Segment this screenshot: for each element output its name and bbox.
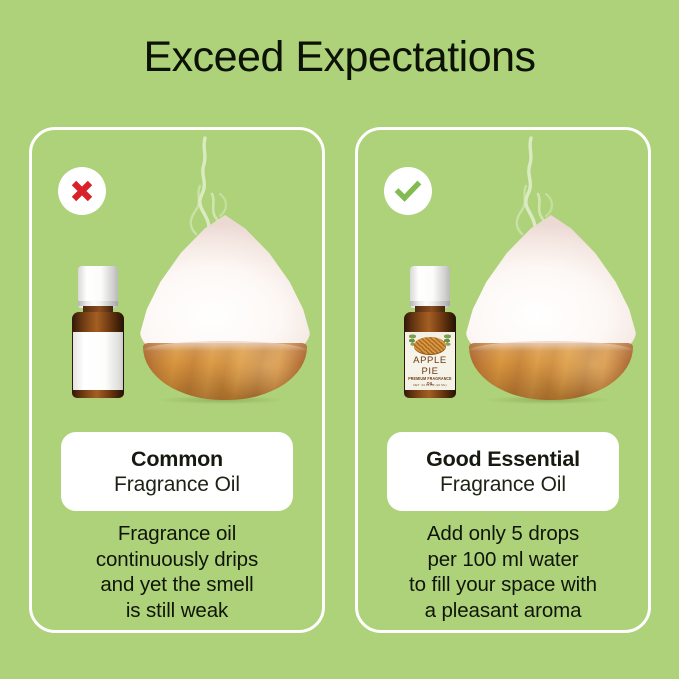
product-scene-common [32,130,322,420]
bottle-label-blank [73,332,123,390]
pie-icon [414,337,446,354]
body-line: is still weak [38,598,316,624]
pill-title: Common [131,446,223,472]
body-copy-common: Fragrance oil continuously drips and yet… [38,521,316,623]
body-copy-good-essential: Add only 5 drops per 100 ml water to fil… [364,521,642,623]
card-good-essential: APPLE PIE PREMIUM FRAGRANCE OIL NET .34 … [355,127,651,633]
bottle-glass-body [72,312,124,398]
pill-label-good-essential: Good Essential Fragrance Oil [387,432,619,511]
comparison-cards: Common Fragrance Oil Fragrance oil conti… [0,127,679,637]
diffuser-wood-base [143,343,307,400]
product-scene-good-essential: APPLE PIE PREMIUM FRAGRANCE OIL NET .34 … [358,130,648,420]
diffuser-device [140,215,310,400]
body-line: to fill your space with [364,572,642,598]
body-line: a pleasant aroma [364,598,642,624]
diffuser-wood-base [469,343,633,400]
body-line: per 100 ml water [364,547,642,573]
bottle-cap [410,266,450,308]
pill-subtitle: Fragrance Oil [114,472,240,497]
page-title: Exceed Expectations [0,34,679,81]
diffuser-device [466,215,636,400]
body-line: Fragrance oil [38,521,316,547]
oil-bottle-common [72,266,124,398]
oil-bottle-apple-pie: APPLE PIE PREMIUM FRAGRANCE OIL NET .34 … [404,266,456,398]
card-common: Common Fragrance Oil Fragrance oil conti… [29,127,325,633]
label-scent-name: APPLE PIE [405,356,455,377]
pill-label-common: Common Fragrance Oil [61,432,293,511]
body-line: continuously drips [38,547,316,573]
body-line: and yet the smell [38,572,316,598]
bottle-label-apple-pie: APPLE PIE PREMIUM FRAGRANCE OIL NET .34 … [405,332,455,390]
bottle-glass-body: APPLE PIE PREMIUM FRAGRANCE OIL NET .34 … [404,312,456,398]
bottle-cap [78,266,118,308]
label-net-contents: NET .34 FL OZ (10 ML) [405,383,455,387]
pill-title: Good Essential [426,446,580,472]
pill-subtitle: Fragrance Oil [440,472,566,497]
body-line: Add only 5 drops [364,521,642,547]
label-artwork: APPLE PIE PREMIUM FRAGRANCE OIL NET .34 … [405,332,455,390]
